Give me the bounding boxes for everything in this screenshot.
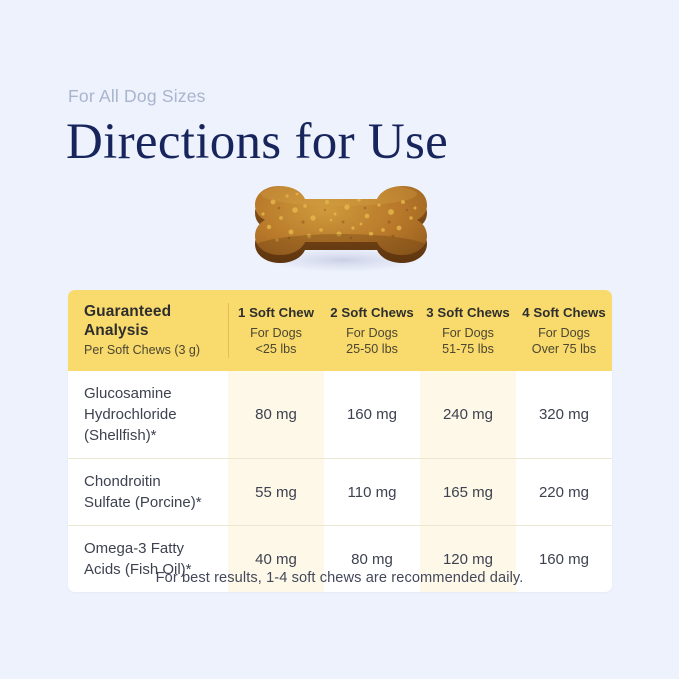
row-value-cell: 320 mg (516, 371, 612, 458)
row-value-cell: 220 mg (516, 459, 612, 525)
column-header-1-sub-line1: For Dogs (250, 326, 302, 340)
directions-for-use-panel: For All Dog Sizes Directions for Use (0, 0, 679, 679)
row-value: 160 mg (347, 406, 397, 423)
column-header-4-sub-line1: For Dogs (538, 326, 590, 340)
column-header-1-sub-line2: <25 lbs (256, 342, 297, 356)
row-value: 80 mg (351, 551, 393, 568)
row-value: 220 mg (539, 484, 589, 501)
row-value: 165 mg (443, 484, 493, 501)
column-header-4-sub: For Dogs Over 75 lbs (532, 325, 596, 357)
column-header-2-sub-line2: 25-50 lbs (346, 342, 398, 356)
row-label-line1: Omega-3 Fatty (84, 538, 214, 559)
dog-bone-chew-icon (243, 172, 439, 280)
page-eyebrow: For All Dog Sizes (68, 86, 206, 107)
row-value-cell: 165 mg (420, 459, 516, 525)
column-header-3-sub: For Dogs 51-75 lbs (442, 325, 494, 357)
column-header-3-sub-line2: 51-75 lbs (442, 342, 494, 356)
row-label-line3: (Shellfish)* (84, 425, 214, 446)
row-label-line1: Glucosamine (84, 383, 214, 404)
row-value-cell: 160 mg (324, 371, 420, 458)
column-header-1-main: 1 Soft Chew (238, 304, 314, 321)
table-header-label-cell: Guaranteed Analysis Per Soft Chews (3 g) (68, 290, 228, 371)
column-header-2-sub-line1: For Dogs (346, 326, 398, 340)
column-header-4-sub-line2: Over 75 lbs (532, 342, 596, 356)
row-value-cell: 110 mg (324, 459, 420, 525)
row-value-cell: 55 mg (228, 459, 324, 525)
column-header-2-main: 2 Soft Chews (330, 304, 413, 321)
column-header-2: 2 Soft Chews For Dogs 25-50 lbs (324, 290, 420, 371)
row-label-line2: Sulfate (Porcine)* (84, 492, 214, 513)
header-divider (228, 303, 229, 358)
row-value: 240 mg (443, 406, 493, 423)
table-body: Glucosamine Hydrochloride (Shellfish)* 8… (68, 371, 612, 592)
row-label-line2: Hydrochloride (84, 404, 214, 425)
row-value: 320 mg (539, 406, 589, 423)
column-header-1-sub: For Dogs <25 lbs (250, 325, 302, 357)
column-header-3-sub-line1: For Dogs (442, 326, 494, 340)
analysis-title-line2: Analysis (84, 321, 214, 340)
table-row: Chondroitin Sulfate (Porcine)* 55 mg 110… (68, 458, 612, 525)
table-row: Glucosamine Hydrochloride (Shellfish)* 8… (68, 371, 612, 458)
row-label-cell: Glucosamine Hydrochloride (Shellfish)* (68, 371, 228, 458)
page-title: Directions for Use (66, 112, 448, 172)
column-header-3-main: 3 Soft Chews (426, 304, 509, 321)
table-header-row: Guaranteed Analysis Per Soft Chews (3 g)… (68, 290, 612, 371)
column-header-4-main: 4 Soft Chews (522, 304, 605, 321)
row-value: 120 mg (443, 551, 493, 568)
usage-footnote: For best results, 1-4 soft chews are rec… (0, 570, 679, 586)
guaranteed-analysis-table: Guaranteed Analysis Per Soft Chews (3 g)… (68, 290, 612, 592)
row-label-cell: Chondroitin Sulfate (Porcine)* (68, 459, 228, 525)
row-value-cell: 240 mg (420, 371, 516, 458)
row-label-line1: Chondroitin (84, 471, 214, 492)
row-value: 110 mg (348, 484, 397, 501)
column-header-2-sub: For Dogs 25-50 lbs (346, 325, 398, 357)
column-header-1: 1 Soft Chew For Dogs <25 lbs (228, 290, 324, 371)
row-value: 40 mg (255, 551, 297, 568)
row-value-cell: 80 mg (228, 371, 324, 458)
column-header-4: 4 Soft Chews For Dogs Over 75 lbs (516, 290, 612, 371)
analysis-subtitle: Per Soft Chews (3 g) (84, 342, 214, 359)
column-header-3: 3 Soft Chews For Dogs 51-75 lbs (420, 290, 516, 371)
analysis-title-line1: Guaranteed (84, 302, 214, 321)
row-value: 80 mg (255, 406, 297, 423)
row-value: 55 mg (255, 484, 297, 501)
row-value: 160 mg (539, 551, 589, 568)
